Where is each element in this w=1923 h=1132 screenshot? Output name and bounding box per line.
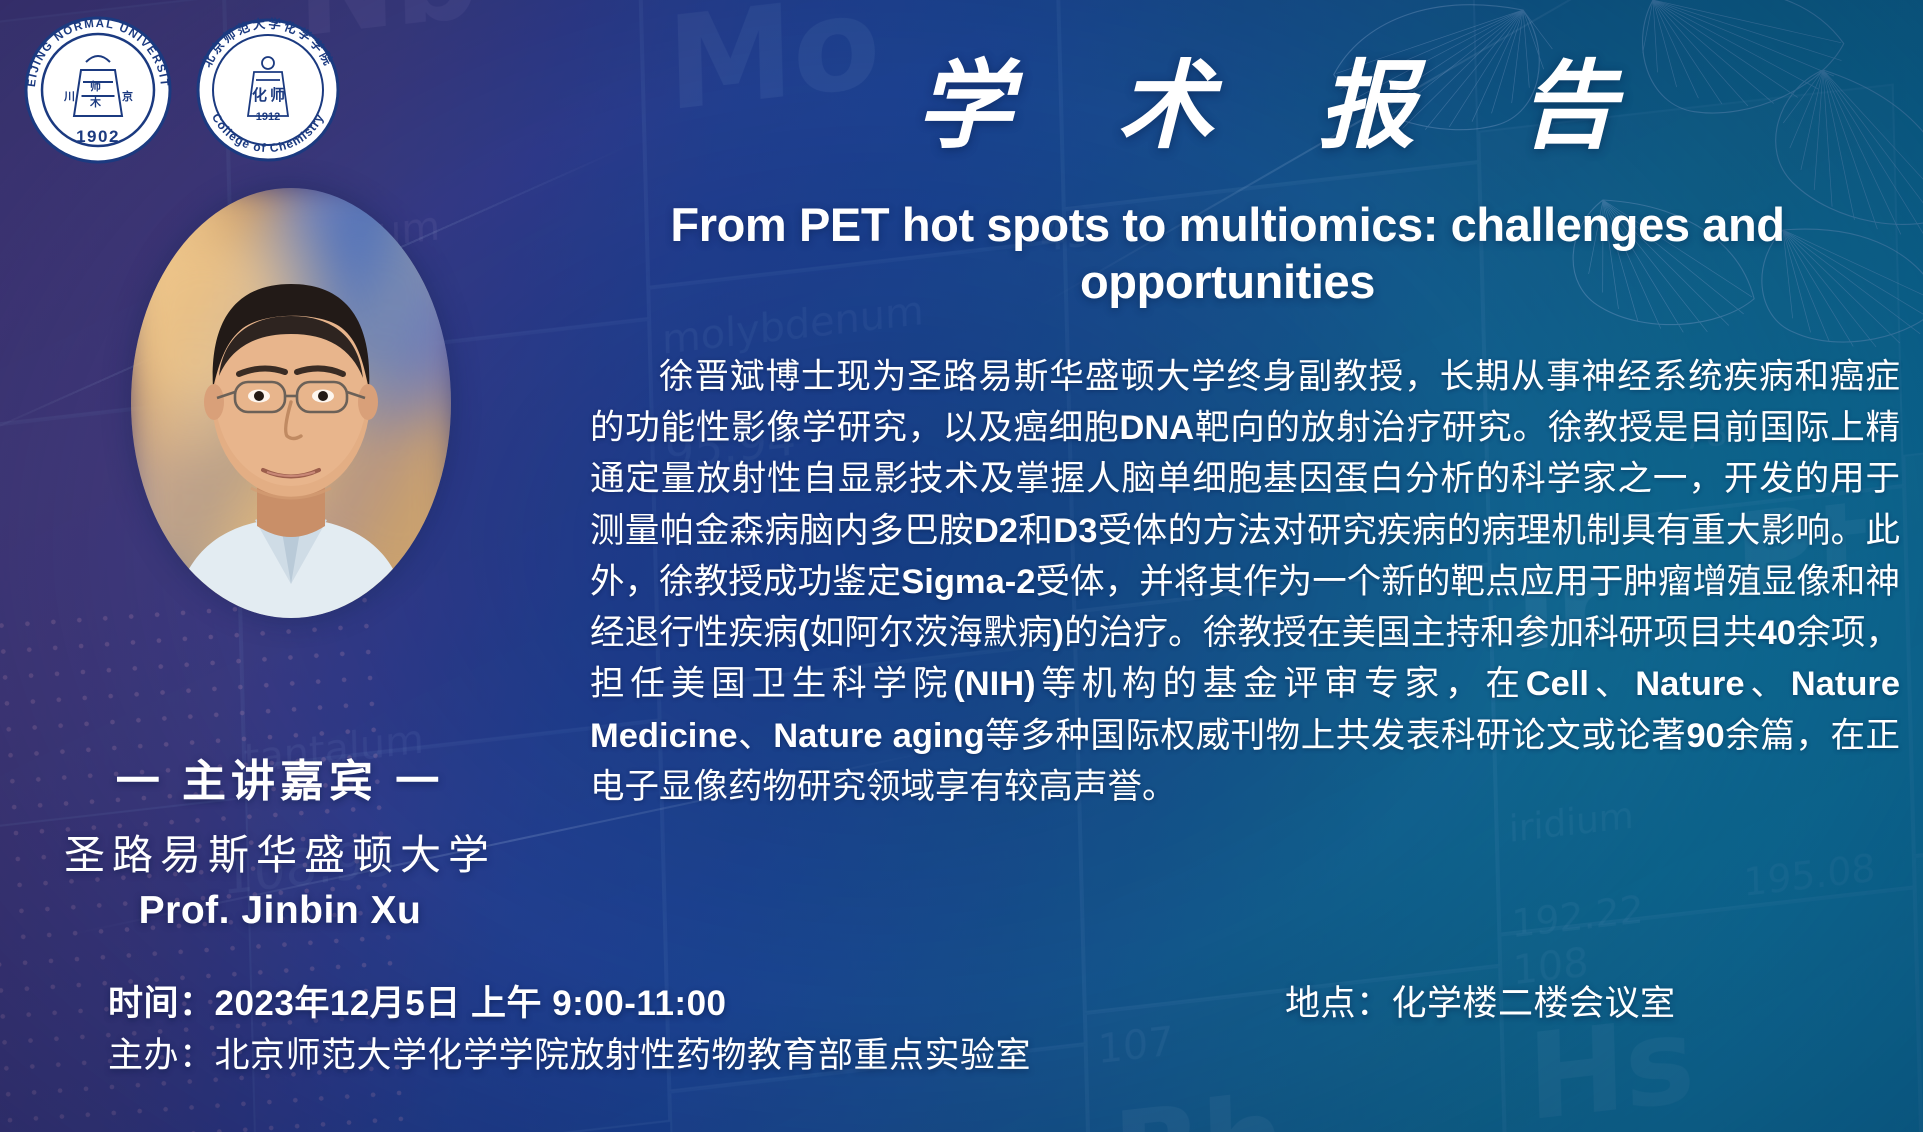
guest-name: Prof. Jinbin Xu: [30, 889, 530, 933]
speaker-photo: [131, 188, 451, 618]
page-title-en: From PET hot spots to multiomics: challe…: [555, 196, 1900, 311]
svg-text:师: 师: [270, 86, 285, 104]
svg-text:1912: 1912: [256, 111, 280, 123]
guest-label: 一 主讲嘉宾 一: [30, 745, 530, 809]
chemistry-college-seal-logo: 北京师范大学化学学院 College of Chemistry 化 师 1912: [194, 16, 342, 164]
svg-text:1902: 1902: [76, 127, 120, 146]
svg-text:川: 川: [63, 90, 75, 103]
svg-text:化: 化: [252, 86, 267, 104]
event-host: 主办：北京师范大学化学学院放射性药物教育部重点实验室: [108, 1027, 1031, 1078]
svg-text:京: 京: [122, 89, 133, 103]
event-time: 时间：2023年12月5日 上午 9:00-11:00: [108, 975, 727, 1026]
svg-text:师: 师: [90, 79, 101, 93]
speaker-portrait-avatar: [131, 188, 451, 618]
guest-info-block: 一 主讲嘉宾 一 圣路易斯华盛顿大学 Prof. Jinbin Xu: [30, 745, 530, 933]
bnu-seal-logo: BEIJING NORMAL UNIVERSITY 师 木 川 京 1902: [24, 16, 172, 164]
svg-text:木: 木: [89, 95, 102, 109]
event-location: 地点：化学楼二楼会议室: [1285, 975, 1676, 1026]
logo-group: BEIJING NORMAL UNIVERSITY 师 木 川 京 1902: [24, 16, 342, 164]
page-title-cn: 学 术 报 告: [880, 28, 1480, 167]
speaker-biography-text: 徐晋斌博士现为圣路易斯华盛顿大学终身副教授，长期从事神经系统疾病和癌症的功能性影…: [590, 352, 1900, 813]
guest-organization: 圣路易斯华盛顿大学: [30, 821, 530, 881]
seminar-poster: Hf hafnium 49 Nb niobium 92.9 42 Mo moly…: [0, 0, 1923, 1132]
footer-info: 时间：2023年12月5日 上午 9:00-11:00 主办：北京师范大学化学学…: [0, 975, 1923, 1095]
